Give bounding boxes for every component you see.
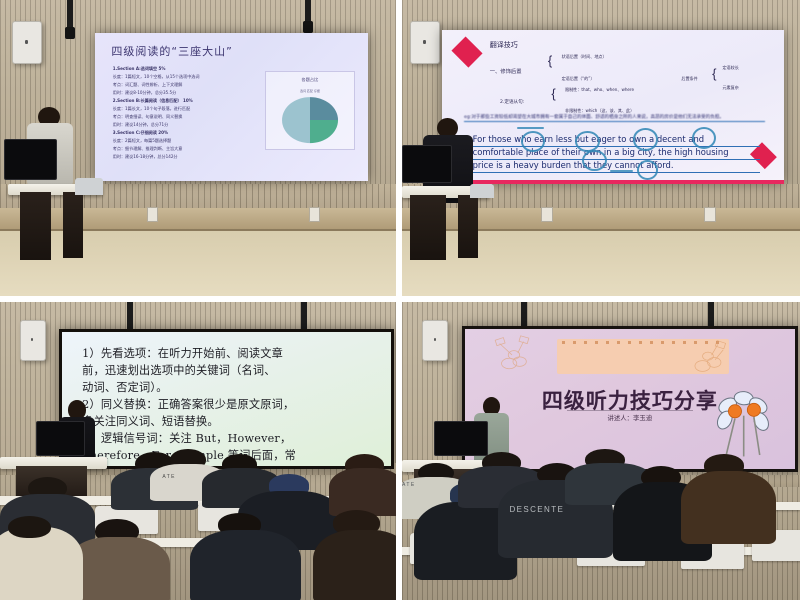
tip-line: 3）逻辑信号词：关注 But，However， [82, 430, 375, 447]
bullet-line: 3.Section C:仔细阅读 20% [113, 129, 263, 137]
bullet-line: 2.Section B:长篇阅读（信息匹配） 10% [113, 97, 263, 105]
jacket-logo-text: DESCENTE [509, 505, 564, 514]
podium [20, 192, 52, 260]
photo-collage: 四级阅读的“三座大山” 1.Section A:选词填空 5% 长度：1篇短文，… [0, 0, 800, 600]
bullet-line: 考点：细节理解、推理判断、主旨大意 [113, 145, 263, 153]
bullet-line: 用时：建议16-18分钟，总分142分 [113, 153, 263, 161]
side-item: 定语较长 [722, 65, 738, 71]
bullet-line: 用时：建议8-10分钟，总分35.5分 [113, 89, 263, 97]
ink-annotation-circle [692, 127, 717, 149]
example-chinese: eg:对于那些工资较低却渴望在大城市拥有一套属于自己的体面、舒适的栖身之所的人来… [464, 114, 765, 122]
ink-annotation-circle [637, 160, 658, 179]
example-english-line: For those who earn less but eager to own… [473, 134, 761, 147]
slide-translation-techniques: 翻译技巧 一、修饰后置 { 状语后置（时间、地点） 定语后置（“的”） 2.定语… [442, 30, 784, 184]
photo-panel-top-right: 翻译技巧 一、修饰后置 { 状语后置（时间、地点） 定语后置（“的”） 2.定语… [402, 0, 800, 296]
student-torso [0, 527, 83, 600]
bullet-line: 考点：明查细读、句意说明、同义替换 [113, 113, 263, 121]
chair [470, 184, 494, 199]
student-torso [190, 530, 301, 600]
ink-annotation-circle [521, 131, 546, 152]
floral-sketch-icon [471, 334, 557, 382]
podium [410, 195, 446, 260]
projection-screen: 四级听力技巧分享 讲述人：李玉迪 [462, 326, 798, 472]
projection-screen: 四级阅读的“三座大山” 1.Section A:选词填空 5% 长度：1篇短文，… [95, 33, 368, 181]
side-label: 后置条件 [681, 76, 697, 82]
podium-monitor [434, 421, 488, 456]
branch-1-item: 状语后置（时间、地点） [562, 54, 607, 60]
pie-chart [282, 97, 338, 143]
pie-chart-panel: 各题占比 选词 匹配 仔细 [265, 71, 354, 150]
projection-screen: 1）先看选项：在听力开始前、阅读文章 前，迅速划出选项中的关键词（名词、 动词、… [59, 329, 394, 469]
brace-icon: { [551, 87, 555, 100]
slide-bullet-list: 1.Section A:选词填空 5% 长度：1篇短文，10个空格，从15个选项… [113, 65, 263, 161]
slide-title: 翻译技巧 [490, 40, 518, 50]
podium-monitor [4, 139, 57, 179]
decorative-diamond-icon [452, 36, 483, 67]
student-torso [329, 468, 396, 516]
bullet-line: 长度：1篇长文，10个句子段落，进行匹配 [113, 105, 263, 113]
wall-outlet-icon [541, 207, 553, 221]
brace-icon: { [548, 54, 552, 67]
student-torso [681, 471, 777, 544]
ceiling-speaker-icon [12, 21, 42, 64]
slide-accent-bar [442, 180, 784, 184]
student-head [8, 516, 52, 538]
ink-annotation-circle [582, 150, 607, 171]
slide-tip-list: 1）先看选项：在听力开始前、阅读文章 前，迅速划出选项中的关键词（名词、 动词、… [82, 345, 375, 466]
ceiling-speaker-icon [410, 21, 440, 64]
slide-title-listening-sharing: 四级听力技巧分享 讲述人：李玉迪 [465, 329, 795, 469]
chart-legend: 选词 匹配 仔细 [266, 89, 353, 93]
wall-outlet-icon [147, 207, 159, 221]
title-divider [567, 410, 693, 411]
ink-annotation-circle [575, 131, 600, 152]
audience-area: ATE DESCENTE [402, 460, 800, 600]
bullet-line: 长度：2篇短文，每篇5题选择题 [113, 137, 263, 145]
example-english-line: comfortable place of their own in a big … [473, 147, 761, 160]
bullet-line: 考点：词汇题、词性辨析、上下文理解 [113, 81, 263, 89]
floor [0, 231, 396, 296]
slide-subtitle: 讲述人：李玉迪 [465, 413, 795, 422]
ceiling-speaker-icon [20, 320, 46, 361]
brace-icon: { [712, 67, 716, 80]
slide-title: 四级阅读的“三座大山” [111, 43, 232, 59]
ink-annotation-circle [633, 128, 658, 150]
ceiling-speaker-icon [422, 320, 448, 361]
chair [75, 178, 103, 196]
tip-line: 前，迅速划出选项中的关键词（名词、 [82, 362, 375, 379]
tip-line: 多关注同义词、短语替换。 [82, 413, 375, 430]
slide-listening-tips: 1）先看选项：在听力开始前、阅读文章 前，迅速划出选项中的关键词（名词、 动词、… [62, 332, 391, 466]
audience-area: ATE [0, 460, 396, 600]
podium-monitor [36, 421, 86, 456]
photo-panel-bottom-left: 1）先看选项：在听力开始前、阅读文章 前，迅速划出选项中的关键词（名词、 动词、… [0, 302, 396, 600]
branch-2-item: 限制性：that、who、when、where [565, 87, 634, 93]
bullet-line: 1.Section A:选词填空 5% [113, 65, 263, 73]
floral-sketch-icon [656, 340, 762, 385]
tip-line: 动词、否定词）。 [82, 379, 375, 396]
jacket-logo-text: ATE [402, 482, 416, 488]
chart-title: 各题占比 [266, 77, 353, 83]
podium-monitor [402, 145, 452, 183]
tip-line: 1）先看选项：在听力开始前、阅读文章 [82, 345, 375, 362]
ink-underline [517, 127, 544, 129]
bullet-line: 长度：1篇短文，10个空格，从15个选项中选词 [113, 73, 263, 81]
jacket-logo-text: ATE [162, 474, 176, 480]
slide-cet4-reading: 四级阅读的“三座大山” 1.Section A:选词填空 5% 长度：1篇短文，… [95, 33, 368, 181]
example-english: For those who earn less but eager to own… [473, 134, 761, 173]
podium-side [458, 195, 478, 257]
section-2-label: 2.定语从句: [500, 99, 524, 105]
tip-line: 2）同义替换：正确答案很少是原文原词， [82, 396, 375, 413]
side-item: 元素复杂 [722, 85, 738, 91]
student-torso [313, 530, 396, 600]
branch-2-item: 非限制性：which（这、该、其、此） [565, 108, 634, 114]
hanging-microphone-icon [67, 0, 73, 30]
hanging-microphone-icon [301, 302, 307, 332]
wall-outlet-icon [704, 207, 716, 221]
stage-platform [0, 208, 396, 231]
wall-outlet-icon [309, 207, 321, 221]
ink-underline [610, 170, 634, 172]
branch-1-item: 定语后置（“的”） [562, 76, 595, 82]
projection-screen: 翻译技巧 一、修饰后置 { 状语后置（时间、地点） 定语后置（“的”） 2.定语… [442, 30, 784, 184]
photo-panel-top-left: 四级阅读的“三座大山” 1.Section A:选词填空 5% 长度：1篇短文，… [0, 0, 396, 296]
section-1-label: 一、修饰后置 [490, 67, 522, 75]
bullet-line: 用时：建议14分钟，总分71分 [113, 121, 263, 129]
photo-panel-bottom-right: 四级听力技巧分享 讲述人：李玉迪 ATE [402, 302, 800, 600]
podium-side [63, 192, 83, 257]
hanging-microphone-icon [305, 0, 311, 24]
